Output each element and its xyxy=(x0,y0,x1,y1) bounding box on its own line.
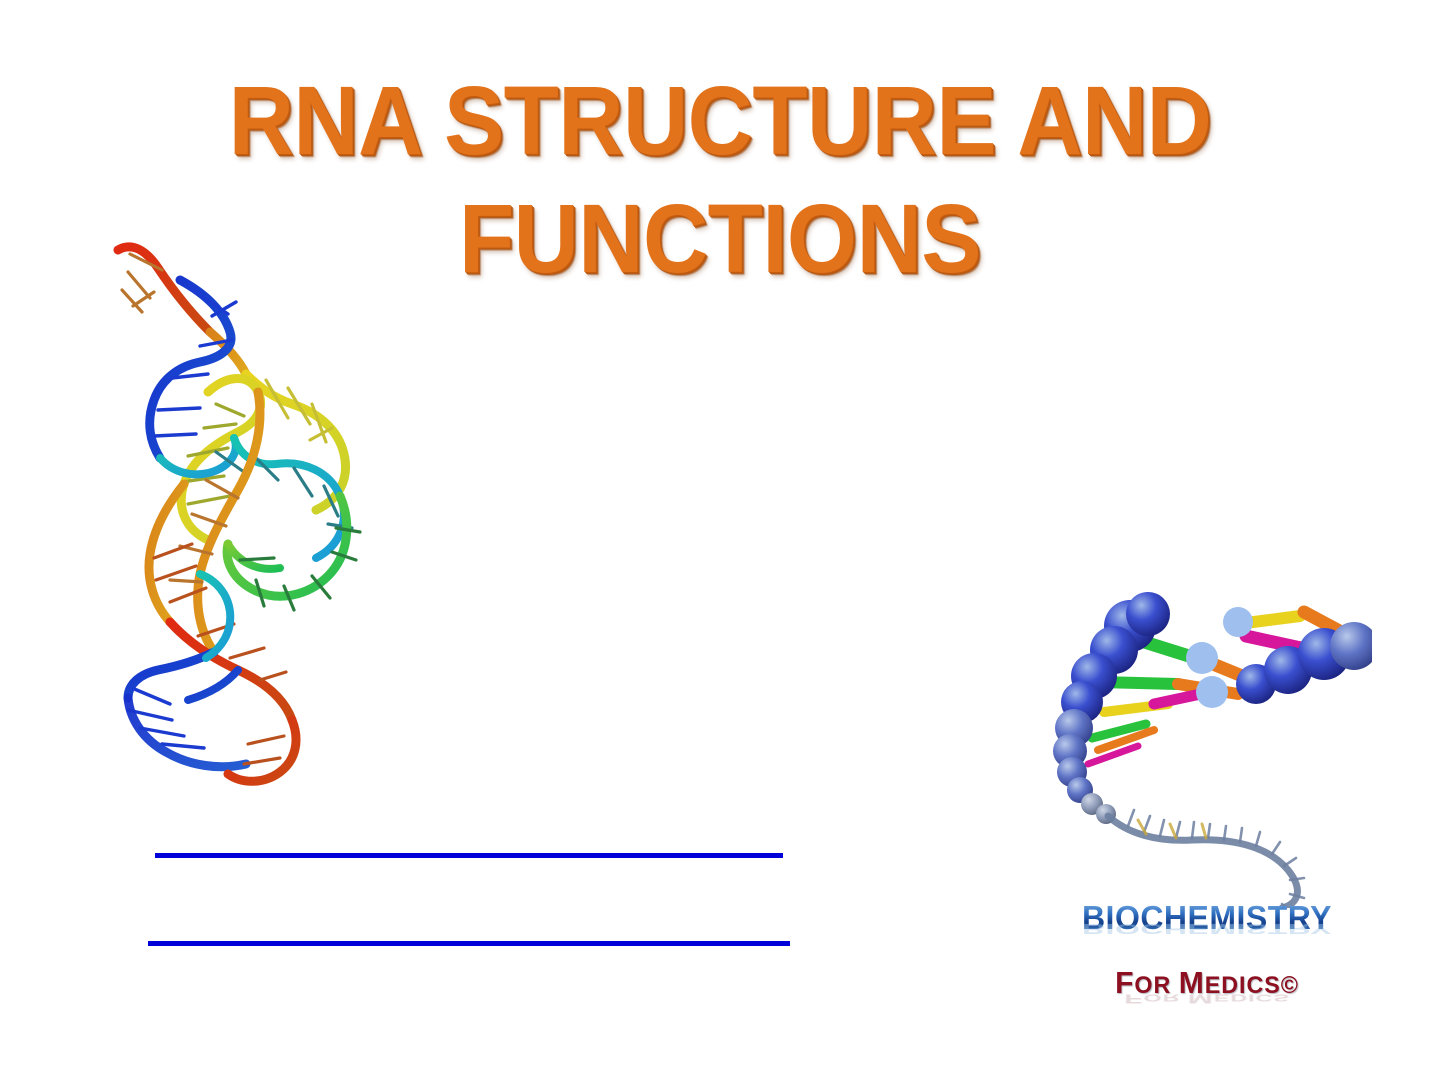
slide-canvas: RNA STRUCTURE AND FUNCTIONS xyxy=(0,0,1440,1080)
logo-sub-ref-f: F xyxy=(1124,992,1143,1007)
logo-sub-ref-or: OR xyxy=(1143,992,1187,1003)
subtitle-rule-1 xyxy=(155,853,783,858)
biochemistry-for-medics-logo: BIOCHEMISTRY BIOCHEMISTRY FOR MEDICS© FO… xyxy=(1042,588,1372,998)
page-title-line-1: RNA STRUCTURE AND xyxy=(218,62,1222,180)
dna-helix-icon xyxy=(1042,588,1372,908)
logo-sub-ref-edics: EDICS xyxy=(1214,992,1290,1003)
rna-structure-image xyxy=(88,228,378,788)
logo-title-reflection: BIOCHEMISTRY xyxy=(1047,924,1367,934)
subtitle-rule-2 xyxy=(148,941,790,946)
logo-wordmark: BIOCHEMISTRY BIOCHEMISTRY FOR MEDICS© FO… xyxy=(1042,900,1372,1026)
logo-sub-ref-m: M xyxy=(1188,992,1214,1007)
logo-subtitle-reflection: FOR MEDICS xyxy=(1047,993,1367,1003)
